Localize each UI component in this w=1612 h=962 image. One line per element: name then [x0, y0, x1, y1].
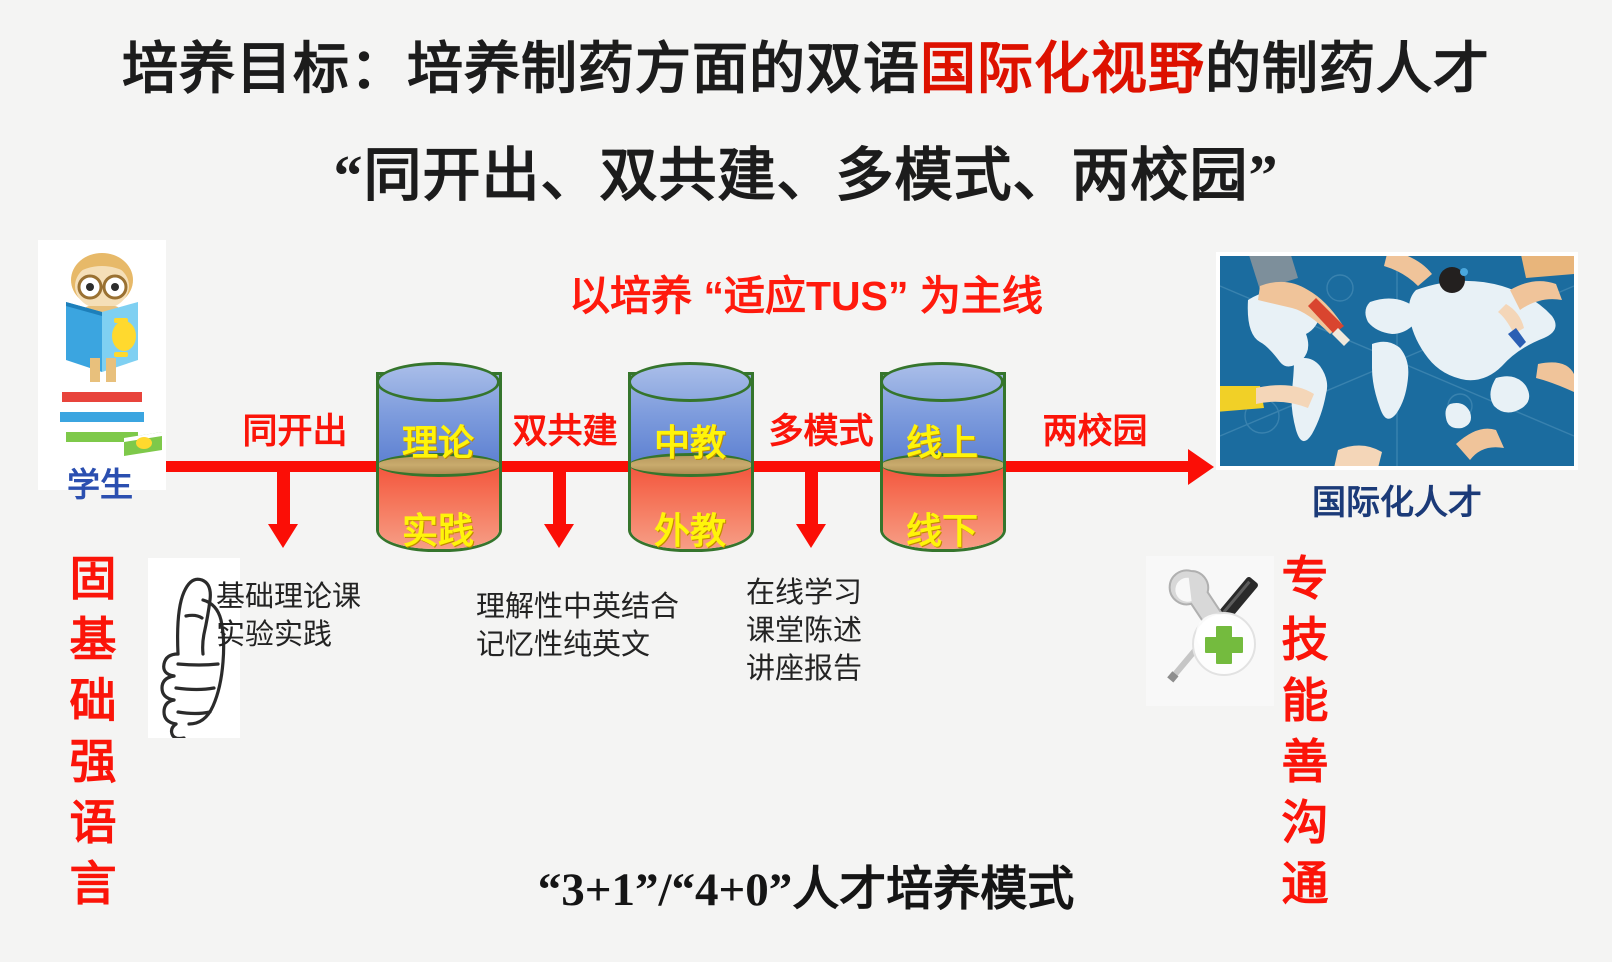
student-card	[38, 240, 166, 490]
slogan-right-char-4: 善	[1274, 733, 1336, 794]
annotation-1: 基础理论课 实验实践	[216, 578, 361, 654]
annotation-3-line-3: 讲座报告	[746, 650, 862, 688]
slogan-right-vertical: 专 技 能 善 沟 通	[1274, 550, 1336, 916]
student-reading-book-icon	[38, 240, 166, 490]
down-arrow-2	[544, 466, 574, 548]
end-node-label: 国际化人才	[1216, 475, 1578, 524]
cylinder-top-label: 中教	[628, 414, 752, 466]
slogan-left-char-5: 语	[62, 794, 124, 855]
tools-wrench-screwdriver-plus-icon	[1146, 556, 1274, 706]
annotation-2: 理解性中英结合 记忆性纯英文	[476, 588, 679, 664]
cylinder-top-label: 理论	[376, 414, 500, 466]
start-node-label: 学生	[30, 458, 170, 506]
world-map-hands-image	[1220, 256, 1574, 466]
cylinder-cap	[628, 362, 752, 402]
page-title-line-1: 培养目标：培养制药方面的双语国际化视野的制药人才	[0, 24, 1612, 105]
slogan-left-char-1: 固	[62, 550, 124, 611]
annotation-3-line-1: 在线学习	[746, 574, 862, 612]
cylinder-bottom-label: 实践	[376, 502, 500, 554]
slogan-left-char-2: 基	[62, 611, 124, 672]
stage-label-1: 同开出	[230, 403, 360, 454]
slogan-right-char-1: 专	[1274, 550, 1336, 611]
cylinder-bottom-label: 线下	[880, 502, 1004, 554]
slogan-right-char-6: 通	[1274, 855, 1336, 916]
slogan-left-char-6: 言	[62, 855, 124, 916]
annotation-3-line-2: 课堂陈述	[746, 612, 862, 650]
slogan-left-char-3: 础	[62, 672, 124, 733]
cylinder-cap	[880, 362, 1004, 402]
title-prefix: 培养目标：培养制药方面的双语	[122, 39, 920, 101]
cylinder-bottom-label: 外教	[628, 502, 752, 554]
slogan-right-char-3: 能	[1274, 672, 1336, 733]
cylinder-theory-practice: 理论 实践	[376, 362, 500, 556]
slide-canvas: 培养目标：培养制药方面的双语国际化视野的制药人才 “同开出、双共建、多模式、两校…	[0, 0, 1612, 962]
title-suffix: 的制药人才	[1205, 39, 1490, 101]
stage-label-2: 双共建	[500, 403, 630, 454]
cylinder-cap	[376, 362, 500, 402]
annotation-2-line-2: 记忆性纯英文	[476, 626, 679, 664]
slogan-left-char-4: 强	[62, 733, 124, 794]
cylinder-top-label: 线上	[880, 414, 1004, 466]
stage-label-3: 多模式	[756, 403, 886, 454]
bottom-caption-model: “3+1”/“4+0”人才培养模式	[0, 850, 1612, 919]
cylinder-online-offline: 线上 线下	[880, 362, 1004, 556]
page-title-line-2: “同开出、双共建、多模式、两校园”	[0, 128, 1612, 212]
annotation-3: 在线学习 课堂陈述 讲座报告	[746, 574, 862, 688]
annotation-1-line-1: 基础理论课	[216, 578, 361, 616]
down-arrow-1	[268, 466, 298, 548]
annotation-1-line-2: 实验实践	[216, 616, 361, 654]
annotation-2-line-1: 理解性中英结合	[476, 588, 679, 626]
slogan-left-vertical: 固 基 础 强 语 言	[62, 550, 124, 916]
down-arrow-3	[796, 466, 826, 548]
stage-label-4: 两校园	[1030, 403, 1160, 454]
slogan-right-char-2: 技	[1274, 611, 1336, 672]
process-axis-arrowhead	[1188, 449, 1214, 485]
cylinder-chinese-foreign-teacher: 中教 外教	[628, 362, 752, 556]
slogan-right-char-5: 沟	[1274, 794, 1336, 855]
title-highlight: 国际化视野	[920, 39, 1205, 101]
